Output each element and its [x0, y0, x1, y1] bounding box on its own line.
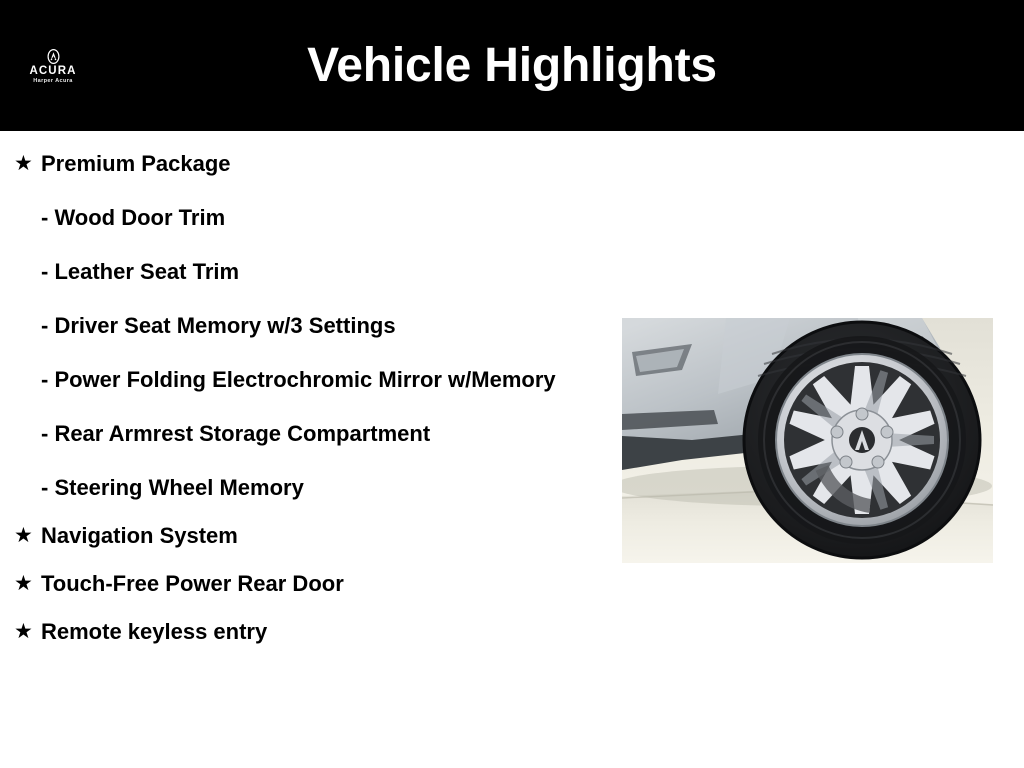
feature-subitem: - Power Folding Electrochromic Mirror w/… [0, 365, 600, 395]
feature-label: - Wood Door Trim [41, 203, 590, 233]
feature-subitem: - Rear Armrest Storage Compartment [0, 419, 600, 449]
vehicle-highlights-list: ★Premium Package- Wood Door Trim- Leathe… [0, 131, 600, 647]
star-bullet-icon: ★ [14, 569, 33, 599]
vehicle-wheel-illustration [622, 318, 993, 563]
star-bullet-icon: ★ [14, 521, 33, 551]
feature-item: ★Premium Package [0, 149, 600, 179]
feature-subitem: - Wood Door Trim [0, 203, 600, 233]
feature-label: Touch-Free Power Rear Door [41, 569, 600, 599]
star-bullet-icon: ★ [14, 617, 33, 647]
feature-label: - Driver Seat Memory w/3 Settings [41, 311, 590, 341]
feature-label: - Leather Seat Trim [41, 257, 590, 287]
feature-item: ★Touch-Free Power Rear Door [0, 569, 600, 599]
vehicle-wheel-photo [622, 318, 993, 563]
feature-label: Premium Package [41, 149, 600, 179]
feature-label: - Steering Wheel Memory [41, 473, 590, 503]
feature-label: - Power Folding Electrochromic Mirror w/… [41, 365, 590, 395]
feature-subitem: - Driver Seat Memory w/3 Settings [0, 311, 600, 341]
feature-item: ★Navigation System [0, 521, 600, 551]
page-title: Vehicle Highlights [0, 0, 1024, 131]
feature-item: ★Remote keyless entry [0, 617, 600, 647]
feature-subitem: - Steering Wheel Memory [0, 473, 600, 503]
feature-label: Navigation System [41, 521, 600, 551]
feature-subitem: - Leather Seat Trim [0, 257, 600, 287]
slide-header: ACURA Harper Acura Vehicle Highlights [0, 0, 1024, 131]
feature-label: - Rear Armrest Storage Compartment [41, 419, 590, 449]
star-bullet-icon: ★ [14, 149, 33, 179]
feature-label: Remote keyless entry [41, 617, 600, 647]
